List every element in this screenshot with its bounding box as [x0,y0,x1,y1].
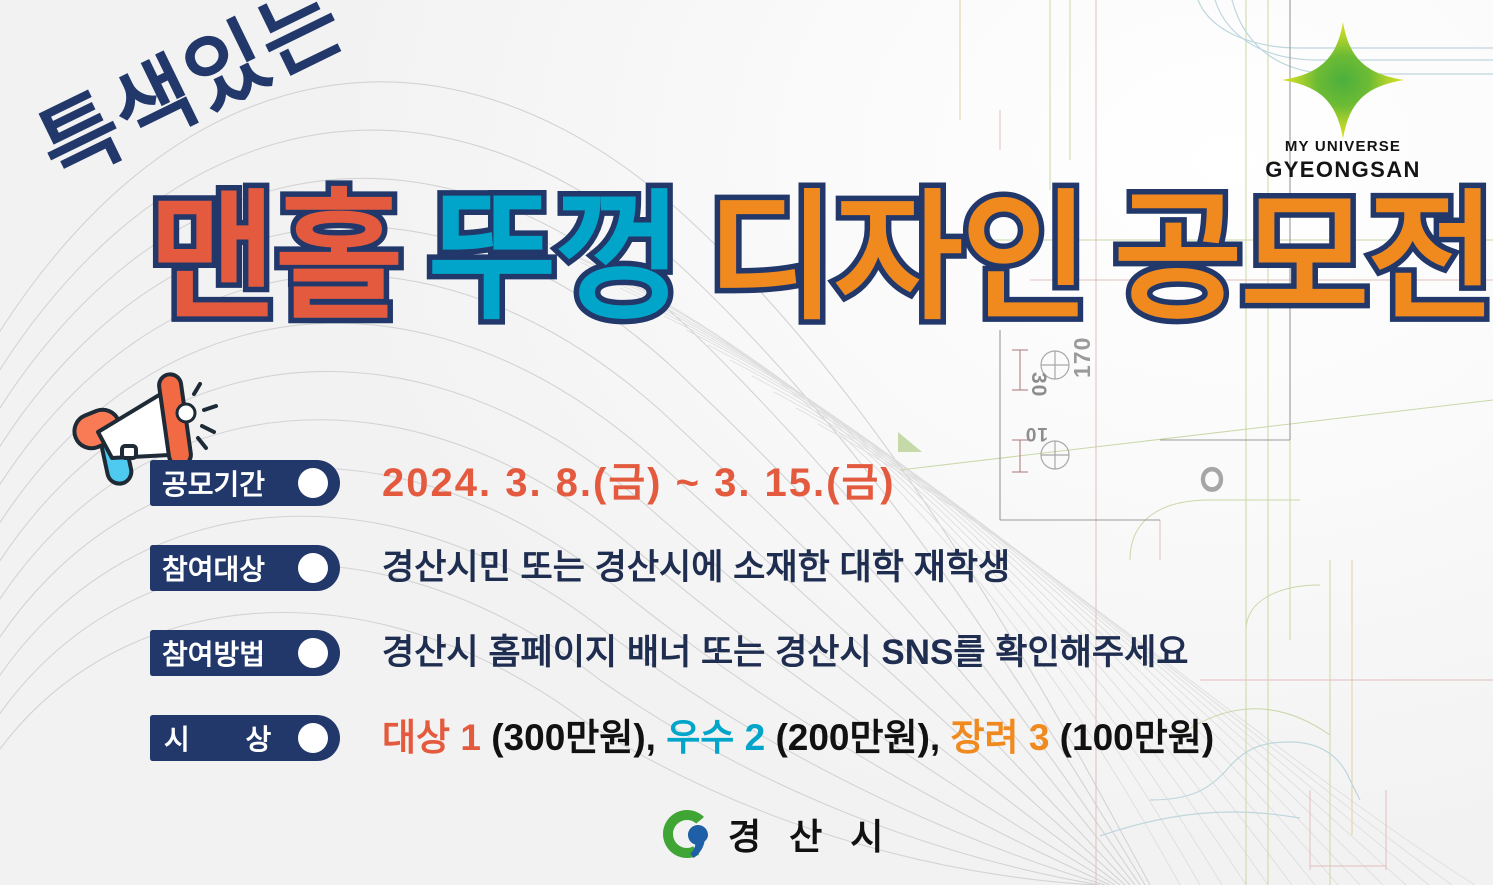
pill-dot-icon [298,468,328,498]
value-period: 2024. 3. 8.(금) ~ 3. 15.(금) [382,456,896,510]
headline-word-cover: 뚜껑 [428,188,682,328]
value-howto: 경산시 홈페이지 배너 또는 경산시 SNS를 확인해주세요 [382,626,1189,680]
info-row-prizes: 시 상 대상 1 (300만원), 우수 2 (200만원), 장려 3 (10… [150,707,1450,792]
label-text-howto: 참여방법 [162,633,265,673]
prize-segment-1: (300만원), [481,717,666,758]
prize-segment-4: 장려 3 [950,717,1049,758]
pill-dot-icon [298,723,328,753]
gyeongsan-city-mark-icon [660,808,714,860]
headline-word-manhole: 맨홀 [148,188,402,328]
poster-kicker: 특색있는 [15,0,361,205]
label-pill-prizes: 시 상 [150,715,340,761]
value-prizes: 대상 1 (300만원), 우수 2 (200만원), 장려 3 (100만원) [382,711,1214,765]
poster-headline: 맨홀뚜껑디자인공모전 [148,188,1493,328]
brand-line-2: GYEONGSAN [1228,157,1458,183]
label-text-prizes: 시 상 [164,718,295,758]
label-text-eligibility: 참여대상 [162,548,265,588]
headline-word-design: 디자인 [707,188,1087,328]
info-row-howto: 참여방법 경산시 홈페이지 배너 또는 경산시 SNS를 확인해주세요 [150,622,1450,707]
cad-arrow-marker [898,432,922,452]
four-point-star-icon [1228,18,1458,143]
prize-segment-0: 대상 1 [382,717,481,758]
poster-canvas: 30 10 170 ㅇ 특색있는 맨홀뚜껑디자인공모전 [0,0,1493,885]
label-pill-eligibility: 참여대상 [150,545,340,591]
label-pill-howto: 참여방법 [150,630,340,676]
prize-segment-5: (100만원) [1049,717,1214,758]
city-logo: 경 산 시 [660,806,892,862]
gyeongsan-brand-mark: MY UNIVERSE GYEONGSAN [1228,18,1458,198]
prize-segment-3: (200만원), [765,717,950,758]
value-eligibility: 경산시민 또는 경산시에 소재한 대학 재학생 [382,541,1010,595]
pill-dot-icon [298,553,328,583]
info-row-eligibility: 참여대상 경산시민 또는 경산시에 소재한 대학 재학생 [150,537,1450,622]
info-row-period: 공모기간 2024. 3. 8.(금) ~ 3. 15.(금) [150,452,1450,537]
brand-line-1: MY UNIVERSE [1228,138,1458,155]
label-text-period: 공모기간 [162,463,265,503]
brand-text-block: MY UNIVERSE GYEONGSAN [1228,138,1458,183]
info-list: 공모기간 2024. 3. 8.(금) ~ 3. 15.(금) 참여대상 경산시… [150,452,1450,792]
headline-word-contest: 공모전 [1114,188,1493,328]
city-name-text: 경 산 시 [728,808,892,860]
cad-label-10: 10 [1025,423,1048,444]
pill-dot-icon [298,638,328,668]
prize-segment-2: 우수 2 [666,717,765,758]
label-pill-period: 공모기간 [150,460,340,506]
